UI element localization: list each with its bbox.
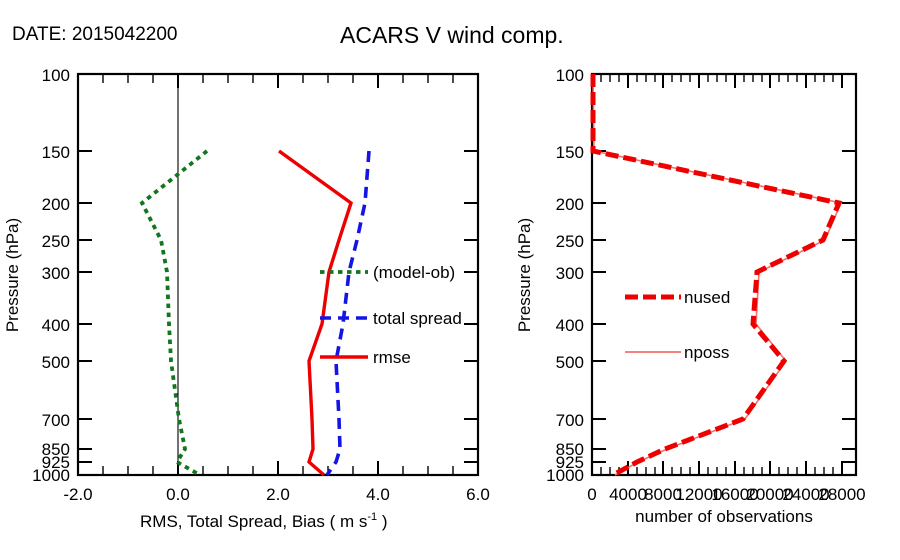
- left-ytick-150: 150: [42, 143, 70, 162]
- left-ytick-250: 250: [42, 232, 70, 251]
- right-y-axis-title: Pressure (hPa): [515, 218, 534, 332]
- right-ytick-400: 400: [556, 316, 584, 335]
- left-ytick-200: 200: [42, 195, 70, 214]
- left-x-axis-title: RMS, Total Spread, Bias ( m s-1 ): [140, 511, 388, 531]
- legend-label-total-spread: total spread: [373, 309, 462, 328]
- right-xtick-4000: 4000: [609, 485, 647, 504]
- left-ytick-500: 500: [42, 353, 70, 372]
- left-ytick-700: 700: [42, 411, 70, 430]
- right-xtick-0: 0: [587, 485, 596, 504]
- right-x-axis-title: number of observations: [635, 507, 813, 526]
- legend-label-nposs: nposs: [684, 343, 729, 362]
- right-ytick-500: 500: [556, 353, 584, 372]
- right-ytick-150: 150: [556, 143, 584, 162]
- left-xtick-6: 6.0: [466, 485, 490, 504]
- left-ytick-100: 100: [42, 66, 70, 85]
- legend-label-rmse: rmse: [373, 348, 411, 367]
- left-xtick-4: 4.0: [366, 485, 390, 504]
- left-xtick-2: 2.0: [266, 485, 290, 504]
- right-xtick-28000: 28000: [818, 485, 865, 504]
- legend-label-nused: nused: [684, 288, 730, 307]
- right-ytick-300: 300: [556, 264, 584, 283]
- left-ytick-400: 400: [42, 316, 70, 335]
- left-xtick-0: 0.0: [166, 485, 190, 504]
- right-ytick-100: 100: [556, 66, 584, 85]
- left-ytick-1000: 1000: [32, 466, 70, 485]
- right-ytick-1000: 1000: [546, 466, 584, 485]
- right-ytick-200: 200: [556, 195, 584, 214]
- left-y-axis-title: Pressure (hPa): [3, 218, 22, 332]
- figure-canvas: DATE: 2015042200 ACARS V wind comp.: [0, 0, 900, 560]
- left-ytick-300: 300: [42, 264, 70, 283]
- right-ytick-700: 700: [556, 411, 584, 430]
- date-label: DATE: 2015042200: [12, 24, 178, 45]
- page-title: ACARS V wind comp.: [340, 22, 564, 48]
- left-xtick-neg2: -2.0: [63, 485, 92, 504]
- legend-label-model-ob: (model-ob): [373, 263, 455, 282]
- right-ytick-250: 250: [556, 232, 584, 251]
